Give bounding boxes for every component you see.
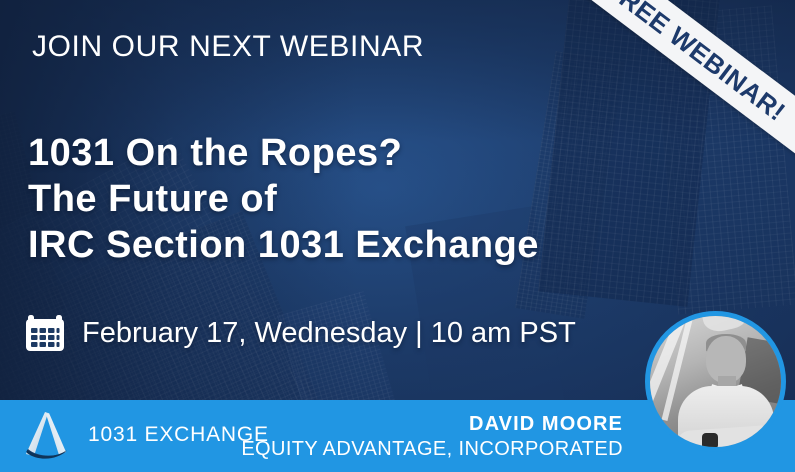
event-date-text: February 17, Wednesday | 10 am PST xyxy=(82,317,576,350)
kicker-text: JOIN OUR NEXT WEBINAR xyxy=(32,30,424,64)
speaker-company: EQUITY ADVANTAGE, INCORPORATED xyxy=(241,436,623,462)
portrait-watch xyxy=(702,433,718,449)
speaker-name: DAVID MOORE xyxy=(241,412,623,436)
title-line-1: 1031 On the Ropes? xyxy=(28,130,539,176)
page-title: 1031 On the Ropes? The Future of IRC Sec… xyxy=(28,130,539,268)
webinar-promo-banner: FREE WEBINAR! JOIN OUR NEXT WEBINAR 1031… xyxy=(0,0,795,472)
equity-advantage-logo-icon xyxy=(18,408,80,466)
event-date-row: February 17, Wednesday | 10 am PST xyxy=(24,312,576,354)
calendar-icon xyxy=(24,312,66,354)
portrait-photo xyxy=(650,316,781,447)
title-line-3: IRC Section 1031 Exchange xyxy=(28,222,539,268)
avatar xyxy=(645,311,786,452)
speaker-block: DAVID MOORE EQUITY ADVANTAGE, INCORPORAT… xyxy=(241,412,623,462)
title-line-2: The Future of xyxy=(28,176,539,222)
